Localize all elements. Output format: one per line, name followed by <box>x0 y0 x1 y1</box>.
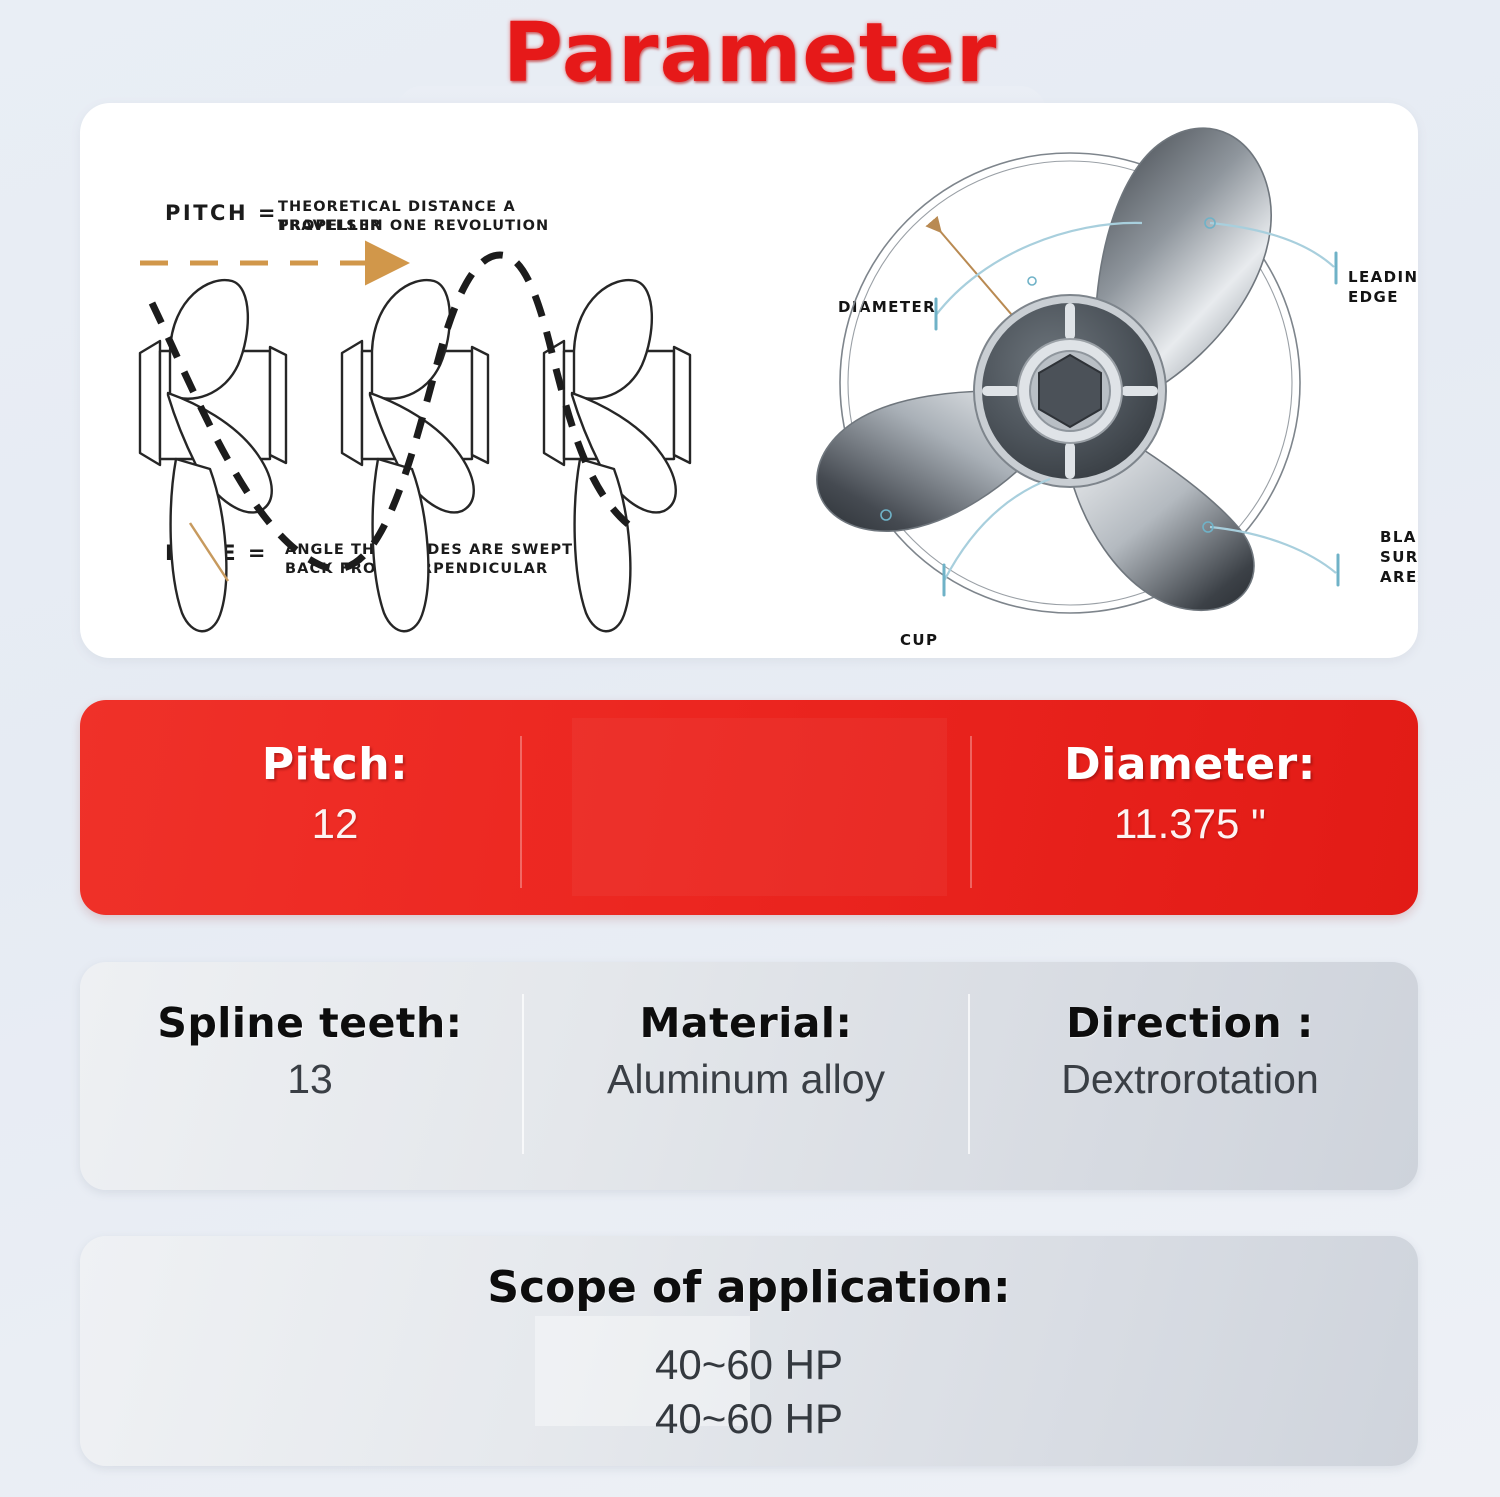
spec-diameter-label: Diameter: <box>980 740 1400 791</box>
secondary-spec-bar: Spline teeth: 13 Material: Aluminum allo… <box>80 962 1418 1190</box>
spec-material-value: Aluminum alloy <box>530 1053 962 1106</box>
pitch-rake-illustration-svg <box>80 103 760 658</box>
spec-pitch: Pitch: 12 <box>140 740 530 851</box>
propeller-illustration-svg <box>740 103 1418 658</box>
spec-direction-value: Dextrorotation <box>976 1053 1404 1106</box>
spec-pitch-label: Pitch: <box>140 740 530 791</box>
page-title-container: Parameter <box>0 6 1500 101</box>
scope-value-1: 40~60 HP <box>80 1338 1418 1392</box>
primary-spec-placeholder-cell <box>572 718 947 896</box>
scope-title: Scope of application: <box>80 1262 1418 1313</box>
spec-direction: Direction : Dextrorotation <box>976 1000 1404 1106</box>
diagram-card: PITCH = THEORETICAL DISTANCE A PROPELLER… <box>80 103 1418 658</box>
spec-spline-teeth-value: 13 <box>100 1053 520 1106</box>
pitch-rake-diagram: PITCH = THEORETICAL DISTANCE A PROPELLER… <box>80 103 760 658</box>
primary-spec-divider-2 <box>970 736 972 888</box>
secondary-spec-divider-2 <box>968 994 970 1154</box>
spec-spline-teeth: Spline teeth: 13 <box>100 1000 520 1106</box>
primary-spec-bar: Pitch: 12 Diameter: 11.375 " <box>80 700 1418 915</box>
spec-direction-label: Direction : <box>976 1000 1404 1047</box>
spec-material-label: Material: <box>530 1000 962 1047</box>
page-title: Parameter <box>503 6 997 101</box>
scope-of-application-bar: Scope of application: 40~60 HP 40~60 HP <box>80 1236 1418 1466</box>
scope-value-2: 40~60 HP <box>80 1392 1418 1446</box>
propeller-callout-diagram: DIAMETER LEADING EDGE BLADE SURFACE AREA… <box>740 103 1418 658</box>
spec-pitch-value: 12 <box>140 797 530 852</box>
spec-diameter-value: 11.375 " <box>980 797 1400 852</box>
spec-diameter: Diameter: 11.375 " <box>980 740 1400 851</box>
spec-material: Material: Aluminum alloy <box>530 1000 962 1106</box>
spec-spline-teeth-label: Spline teeth: <box>100 1000 520 1047</box>
secondary-spec-divider-1 <box>522 994 524 1154</box>
scope-values: 40~60 HP 40~60 HP <box>80 1338 1418 1446</box>
